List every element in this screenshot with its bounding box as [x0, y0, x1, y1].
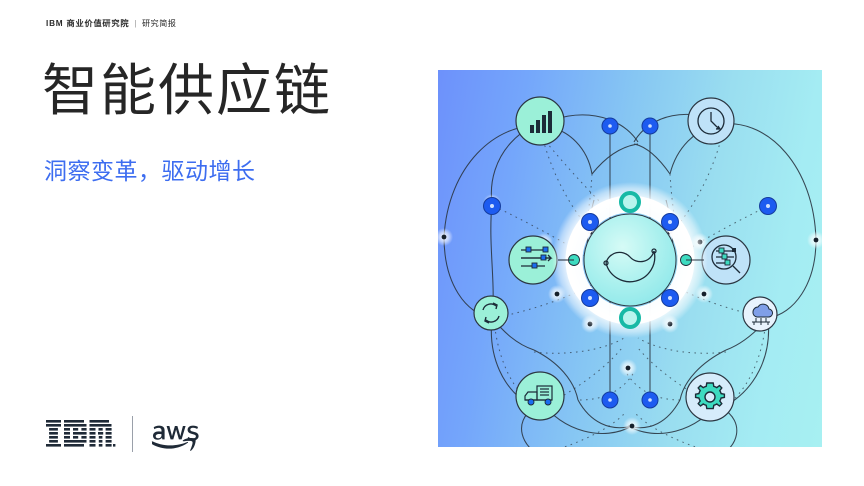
node-sliders-icon	[509, 236, 557, 284]
page-subtitle: 洞察变革，驱动增长	[44, 152, 256, 186]
breadcrumb-brand: IBM 商业价值研究院	[46, 17, 129, 29]
node-magnifier-data-icon	[702, 236, 750, 284]
node-gear-icon	[686, 373, 734, 421]
logo-lockup	[46, 416, 209, 452]
aws-logo	[149, 417, 209, 451]
breadcrumb-separator: |	[134, 19, 137, 28]
node-refresh-cycle-icon	[474, 296, 508, 330]
node-cloud-network-icon	[743, 297, 777, 331]
hero-illustration-panel	[438, 70, 822, 447]
breadcrumb: IBM 商业价值研究院 | 研究简报	[46, 17, 176, 29]
ibm-logo	[46, 420, 116, 449]
left-content-column: IBM 商业价值研究院 | 研究简报 智能供应链 洞察变革，驱动增长	[0, 0, 438, 486]
node-bar-chart-icon	[516, 97, 564, 145]
page-title: 智能供应链	[42, 59, 332, 123]
logo-divider	[132, 416, 133, 452]
breadcrumb-category: 研究简报	[142, 17, 176, 29]
central-hub	[552, 182, 708, 338]
cover-slide: IBM 商业价值研究院 | 研究简报 智能供应链 洞察变革，驱动增长	[0, 0, 864, 486]
node-delivery-truck-icon	[516, 372, 564, 420]
supply-chain-network-graphic	[438, 70, 822, 447]
node-clock-icon	[688, 98, 734, 144]
